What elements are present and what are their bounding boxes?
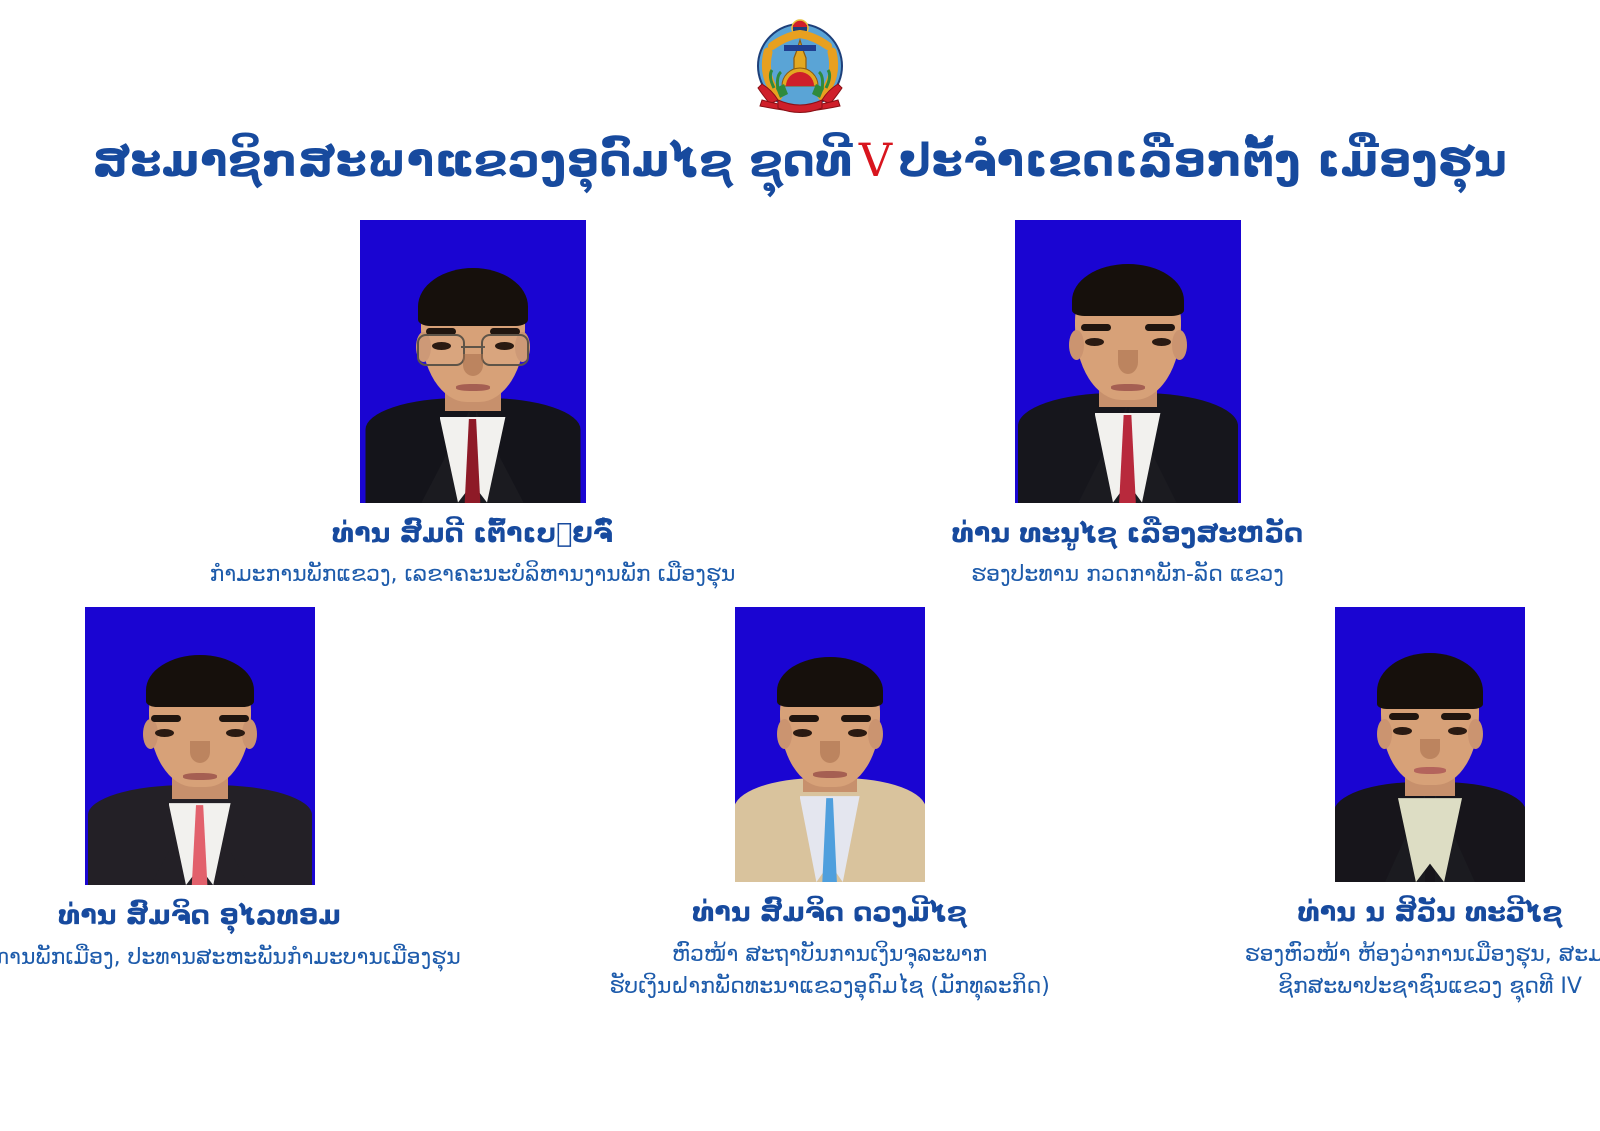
- person-card: ທ່ານ ນ ສິວັນ ທະວີໄຊ ຮອງຫົວໜ້າ ຫ້ອງວ່າການ…: [1245, 607, 1600, 1003]
- person-name: ທ່ານ ທະນູໄຊ ເລືອງສະຫວັດ: [952, 517, 1303, 551]
- person-name: ທ່ານ ສົມດີ ເຕົ້າເບ຺ຍຈົ໋: [332, 517, 613, 551]
- person-name: ທ່ານ ສົມຈິດ ອຸໄລທອມ: [58, 899, 341, 933]
- people-row-top: ທ່ານ ສົມດີ ເຕົ້າເບ຺ຍຈົ໋ ກຳມະການພັກແຂວງ, …: [0, 220, 1600, 592]
- page-title: ສະມາຊິກສະພາແຂວງອຸດົມໄຊ ຊຸດທີVປະຈຳເຂດເລືອ…: [93, 132, 1508, 190]
- person-role: ຮອງປະທານ ກວດກາພັກ-ລັດ ແຂວງ: [971, 559, 1284, 591]
- person-role-line: ຮອງຫົວໜ້າ ຫ້ອງວ່າການເມືອງຮຸນ, ສະມາ: [1245, 939, 1600, 971]
- person-role-line: ຮັບເງິນຝາກພັດທະນາແຂວງອຸດົມໄຊ (ມັກທຸລະກິດ…: [609, 971, 1050, 1003]
- person-role: ກຳມະການພັກແຂວງ, ເລຂາຄະນະບໍລິຫານງານພັກ ເມ…: [210, 559, 736, 591]
- person-role-line: ຫົວໜ້າ ສະຖາບັນການເງິນຈຸລະພາກ: [609, 939, 1050, 971]
- portrait-photo-somchit-oulaythom: [85, 607, 315, 885]
- title-text-part2: ປະຈຳເຂດເລືອກຕັ້ງ ເມືອງຮຸນ: [899, 134, 1508, 187]
- people-row-bottom: ທ່ານ ສົມຈິດ ອຸໄລທອມ ກຳມະການພັກເມືອງ, ປະທ…: [0, 607, 1600, 1003]
- person-card: ທ່ານ ສົມຈິດ ດວງມີໄຊ ຫົວໜ້າ ສະຖາບັນການເງິ…: [615, 607, 1045, 1003]
- poster-root: ສະມາຊິກສະພາແຂວງອຸດົມໄຊ ຊຸດທີVປະຈຳເຂດເລືອ…: [0, 0, 1600, 1131]
- person-role: ຮອງຫົວໜ້າ ຫ້ອງວ່າການເມືອງຮຸນ, ສະມາ ຊິກສະ…: [1245, 939, 1600, 1003]
- person-card: ທ່ານ ທະນູໄຊ ເລືອງສະຫວັດ ຮອງປະທານ ກວດກາພັ…: [913, 220, 1343, 592]
- portrait-photo-somdy: [360, 220, 586, 503]
- lao-national-emblem-icon: [745, 12, 855, 116]
- person-role-line: ຊິກສະພາປະຊາຊົນແຂວງ ຊຸດທີ IV: [1245, 971, 1600, 1003]
- person-card: ທ່ານ ສົມດີ ເຕົ້າເບ຺ຍຈົ໋ ກຳມະການພັກແຂວງ, …: [258, 220, 688, 592]
- title-text-part1: ສະມາຊິກສະພາແຂວງອຸດົມໄຊ ຊຸດທີ: [93, 134, 853, 187]
- person-role: ຫົວໜ້າ ສະຖາບັນການເງິນຈຸລະພາກ ຮັບເງິນຝາກພ…: [609, 939, 1050, 1003]
- portrait-photo-somchit-douangmixay: [735, 607, 925, 882]
- portrait-photo-sivanh-thavixay: [1335, 607, 1525, 882]
- person-role-line: ກຳມະການພັກແຂວງ, ເລຂາຄະນະບໍລິຫານງານພັກ ເມ…: [210, 559, 736, 591]
- portrait-photo-thanousay: [1015, 220, 1241, 503]
- person-role: ກຳມະການພັກເມືອງ, ປະທານສະຫະພັນກຳມະບານເມືອ…: [0, 942, 461, 974]
- person-role-line: ກຳມະການພັກເມືອງ, ປະທານສະຫະພັນກຳມະບານເມືອ…: [0, 942, 461, 974]
- title-roman-numeral: V: [853, 133, 899, 187]
- person-name: ທ່ານ ນ ສິວັນ ທະວີໄຊ: [1298, 896, 1563, 930]
- person-name: ທ່ານ ສົມຈິດ ດວງມີໄຊ: [692, 896, 967, 930]
- person-role-line: ຮອງປະທານ ກວດກາພັກ-ລັດ ແຂວງ: [971, 559, 1284, 591]
- person-card: ທ່ານ ສົມຈິດ ອຸໄລທອມ ກຳມະການພັກເມືອງ, ປະທ…: [0, 607, 415, 1003]
